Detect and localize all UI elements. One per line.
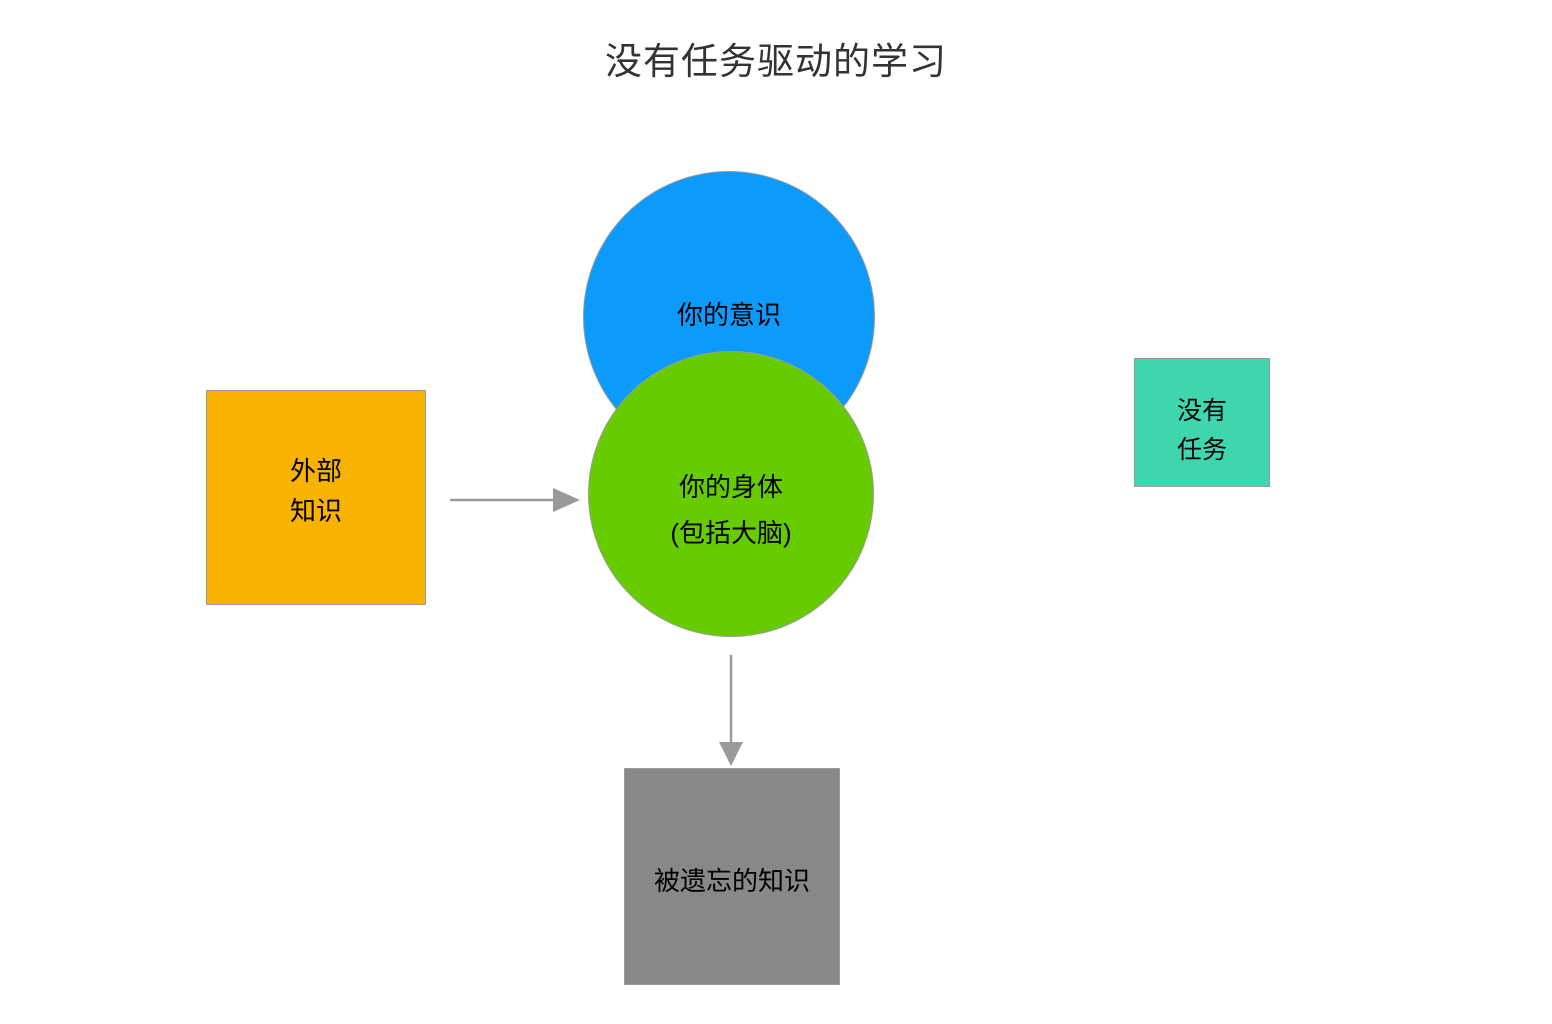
arrowhead-down-icon xyxy=(719,742,743,766)
node-forgotten-knowledge-label: 被遗忘的知识 xyxy=(625,864,839,898)
diagram-canvas: 没有任务驱动的学习 外部 知识 你的意识 你的身体 (包括大脑) 没有 任务 被… xyxy=(0,0,1552,1024)
edge-external-knowledge-to-your-body xyxy=(450,488,580,512)
node-forgotten-knowledge[interactable]: 被遗忘的知识 xyxy=(624,768,840,985)
node-your-body[interactable]: 你的身体 (包括大脑) xyxy=(588,351,874,637)
node-external-knowledge[interactable]: 外部 知识 xyxy=(206,390,426,605)
node-no-task-label: 没有 任务 xyxy=(1135,392,1269,470)
arrowhead-right-icon xyxy=(553,488,580,512)
page-title: 没有任务驱动的学习 xyxy=(0,38,1552,86)
node-your-body-label: 你的身体 (包括大脑) xyxy=(589,464,873,556)
edge-your-body-to-forgotten-knowledge xyxy=(719,655,743,766)
node-external-knowledge-label: 外部 知识 xyxy=(207,451,425,531)
node-your-consciousness-label: 你的意识 xyxy=(584,298,874,332)
node-no-task[interactable]: 没有 任务 xyxy=(1134,358,1270,487)
